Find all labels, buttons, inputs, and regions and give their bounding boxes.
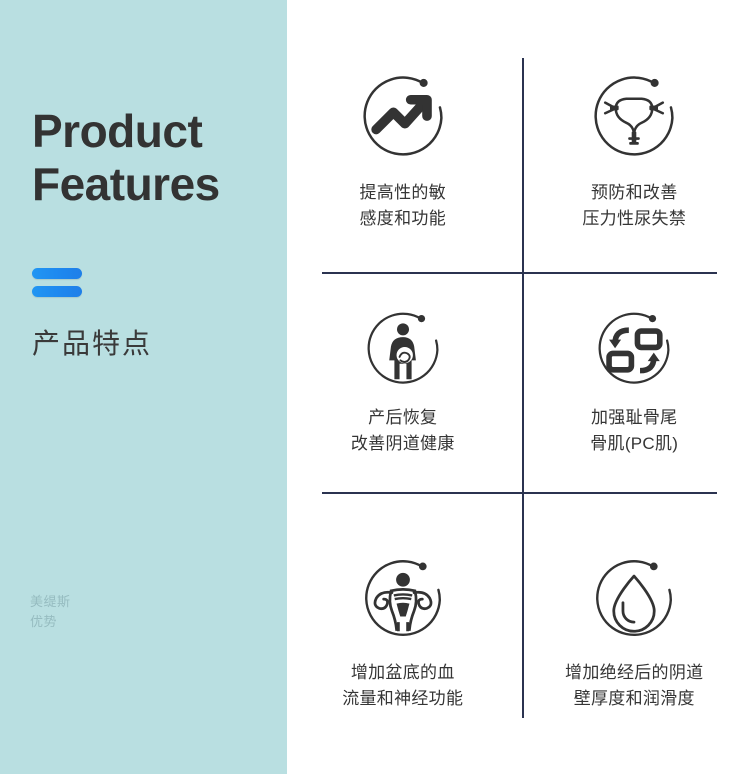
feature-label: 产后恢复 改善阴道健康 xyxy=(351,405,455,458)
feature-label: 提高性的敏 感度和功能 xyxy=(360,180,447,233)
page-title-chinese: 产品特点 xyxy=(32,322,152,362)
heading-block: Product Features xyxy=(32,105,282,211)
feature-cell: 提高性的敏 感度和功能 xyxy=(287,0,519,272)
page-title-english: Product Features xyxy=(32,105,282,211)
water-drop-icon xyxy=(588,554,680,646)
feature-cell: 预防和改善 压力性尿失禁 xyxy=(519,0,750,272)
pregnant-woman-icon xyxy=(360,307,446,393)
trend-arrow-icon xyxy=(355,70,451,166)
uterus-icon xyxy=(357,554,449,646)
feature-label: 加强耻骨尾 骨肌(PC肌) xyxy=(590,405,678,458)
feature-cell: 产后恢复 改善阴道健康 xyxy=(287,272,519,492)
feature-cell: 增加盆底的血 流量和神经功能 xyxy=(287,492,519,774)
features-grid: 提高性的敏 感度和功能 xyxy=(287,0,750,774)
product-features-page: Product Features 产品特点 美缇斯 优势 xyxy=(0,0,750,774)
exchange-squares-icon xyxy=(591,307,677,393)
features-panel: 提高性的敏 感度和功能 xyxy=(287,0,750,774)
accent-bar-bottom xyxy=(32,286,82,297)
accent-bar-top xyxy=(32,268,82,279)
feature-cell: 加强耻骨尾 骨肌(PC肌) xyxy=(519,272,750,492)
feature-label: 增加绝经后的阴道 壁厚度和润滑度 xyxy=(565,660,703,713)
feature-cells: 提高性的敏 感度和功能 xyxy=(287,0,750,774)
left-title-panel: Product Features 产品特点 美缇斯 优势 xyxy=(0,0,287,774)
bladder-icon xyxy=(586,70,682,166)
feature-label: 增加盆底的血 流量和神经功能 xyxy=(342,660,463,713)
feature-cell: 增加绝经后的阴道 壁厚度和润滑度 xyxy=(519,492,750,774)
feature-label: 预防和改善 压力性尿失禁 xyxy=(582,180,686,233)
brand-note: 美缇斯 优势 xyxy=(30,592,71,632)
accent-equals-mark xyxy=(32,268,82,297)
